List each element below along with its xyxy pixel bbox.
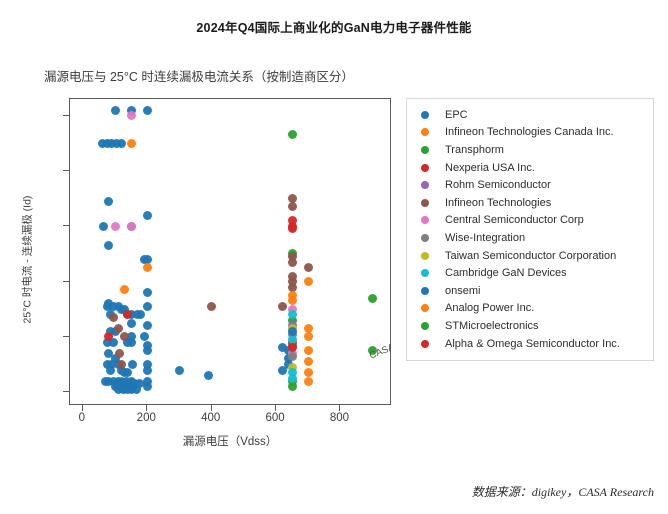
scatter-point bbox=[368, 294, 377, 303]
scatter-point bbox=[288, 382, 297, 391]
x-axis-tick-label: 400 bbox=[201, 412, 220, 424]
scatter-points-layer bbox=[70, 99, 390, 404]
scatter-point bbox=[288, 352, 297, 361]
page-title: 2024年Q4国际上商业化的GaN电力电子器件性能 bbox=[0, 17, 668, 36]
legend-item[interactable]: Nexperia USA Inc. bbox=[415, 159, 645, 177]
legend-item[interactable]: Infineon Technologies bbox=[415, 194, 645, 212]
legend-item-label: STMicroelectronics bbox=[445, 320, 539, 332]
legend[interactable]: EPCInfineon Technologies Canada Inc.Tran… bbox=[406, 98, 654, 361]
legend-item-label: onsemi bbox=[445, 285, 480, 297]
scatter-point bbox=[127, 111, 136, 120]
legend-item-label: Infineon Technologies Canada Inc. bbox=[445, 126, 614, 138]
legend-item[interactable]: Wise-Integration bbox=[415, 229, 645, 247]
scatter-point bbox=[288, 202, 297, 211]
legend-item[interactable]: Cambridge GaN Devices bbox=[415, 264, 645, 282]
scatter-point bbox=[120, 285, 129, 294]
y-axis-tick-mark bbox=[63, 336, 69, 337]
source-note: 数据来源：digikey，CASA Research bbox=[472, 483, 654, 500]
scatter-point bbox=[204, 371, 213, 380]
scatter-point bbox=[127, 319, 136, 328]
scatter-point bbox=[132, 385, 141, 394]
legend-item[interactable]: Taiwan Semiconductor Corporation bbox=[415, 247, 645, 265]
legend-marker-icon bbox=[421, 216, 429, 224]
legend-marker-icon bbox=[421, 164, 429, 172]
legend-marker-icon bbox=[421, 128, 429, 136]
legend-item-label: Taiwan Semiconductor Corporation bbox=[445, 250, 616, 262]
scatter-point bbox=[288, 374, 297, 383]
legend-item-label: Nexperia USA Inc. bbox=[445, 162, 535, 174]
scatter-point bbox=[278, 302, 287, 311]
scatter-point bbox=[304, 263, 313, 272]
chart-page: 2024年Q4国际上商业化的GaN电力电子器件性能 漏源电压与 25°C 时连续… bbox=[0, 0, 668, 514]
scatter-point bbox=[99, 222, 108, 231]
scatter-point bbox=[104, 241, 113, 250]
scatter-point bbox=[111, 222, 120, 231]
y-axis-tick-mark bbox=[63, 225, 69, 226]
plot-area: CASA Research bbox=[69, 98, 391, 405]
legend-marker-icon bbox=[421, 252, 429, 260]
legend-item-label: Analog Power Inc. bbox=[445, 302, 534, 314]
legend-marker-icon bbox=[421, 340, 429, 348]
scatter-point bbox=[143, 321, 152, 330]
scatter-point bbox=[143, 346, 152, 355]
scatter-point bbox=[106, 366, 115, 375]
legend-marker-icon bbox=[421, 269, 429, 277]
y-axis-title: 25°C 时电流 - 连续漏极 (Id) bbox=[20, 170, 35, 350]
scatter-point bbox=[288, 224, 297, 233]
scatter-point bbox=[143, 263, 152, 272]
legend-item[interactable]: Transphorm bbox=[415, 141, 645, 159]
scatter-point bbox=[288, 296, 297, 305]
legend-item[interactable]: Rohm Semiconductor bbox=[415, 176, 645, 194]
legend-item-label: Cambridge GaN Devices bbox=[445, 267, 567, 279]
legend-marker-icon bbox=[421, 111, 429, 119]
legend-item[interactable]: Alpha & Omega Semiconductor Inc. bbox=[415, 335, 645, 353]
legend-marker-icon bbox=[421, 146, 429, 154]
scatter-point bbox=[304, 377, 313, 386]
legend-marker-icon bbox=[421, 181, 429, 189]
scatter-point bbox=[117, 139, 126, 148]
legend-item[interactable]: onsemi bbox=[415, 282, 645, 300]
y-axis-tick-mark bbox=[63, 281, 69, 282]
chart-subtitle: 漏源电压与 25°C 时连续漏极电流关系（按制造商区分） bbox=[44, 66, 354, 85]
scatter-point bbox=[143, 366, 152, 375]
y-axis-tick-mark bbox=[63, 170, 69, 171]
scatter-point bbox=[104, 197, 113, 206]
y-axis-tick-mark bbox=[63, 391, 69, 392]
scatter-point bbox=[127, 222, 136, 231]
x-axis-tick-mark bbox=[339, 405, 340, 411]
scatter-point bbox=[278, 366, 287, 375]
legend-item-label: Central Semiconductor Corp bbox=[445, 214, 584, 226]
scatter-point bbox=[143, 288, 152, 297]
scatter-point bbox=[143, 106, 152, 115]
scatter-point bbox=[115, 349, 124, 358]
scatter-point bbox=[288, 327, 297, 336]
legend-item-label: Alpha & Omega Semiconductor Inc. bbox=[445, 338, 620, 350]
x-axis-tick-mark bbox=[82, 405, 83, 411]
legend-item[interactable]: Infineon Technologies Canada Inc. bbox=[415, 124, 645, 142]
legend-marker-icon bbox=[421, 234, 429, 242]
scatter-point bbox=[288, 130, 297, 139]
scatter-point bbox=[304, 357, 313, 366]
scatter-point bbox=[304, 332, 313, 341]
scatter-point bbox=[111, 106, 120, 115]
x-axis-tick-mark bbox=[146, 405, 147, 411]
scatter-point bbox=[117, 360, 126, 369]
scatter-point bbox=[143, 302, 152, 311]
legend-marker-icon bbox=[421, 322, 429, 330]
x-axis-tick-mark bbox=[275, 405, 276, 411]
scatter-point bbox=[304, 277, 313, 286]
legend-item[interactable]: EPC bbox=[415, 106, 645, 124]
legend-item[interactable]: Analog Power Inc. bbox=[415, 300, 645, 318]
x-axis-tick-label: 200 bbox=[137, 412, 156, 424]
scatter-point bbox=[304, 346, 313, 355]
scatter-point bbox=[304, 368, 313, 377]
x-axis-title: 漏源电压（Vdss） bbox=[69, 433, 391, 449]
scatter-point bbox=[143, 382, 152, 391]
y-axis-tick-mark bbox=[63, 115, 69, 116]
scatter-point bbox=[175, 366, 184, 375]
x-axis-tick-mark bbox=[211, 405, 212, 411]
legend-marker-icon bbox=[421, 304, 429, 312]
legend-item[interactable]: STMicroelectronics bbox=[415, 317, 645, 335]
legend-item-label: Wise-Integration bbox=[445, 232, 525, 244]
scatter-point bbox=[127, 139, 136, 148]
legend-item-label: Rohm Semiconductor bbox=[445, 179, 551, 191]
x-axis-tick-label: 0 bbox=[79, 412, 85, 424]
legend-marker-icon bbox=[421, 287, 429, 295]
scatter-point bbox=[143, 211, 152, 220]
scatter-point bbox=[140, 332, 149, 341]
scatter-point bbox=[109, 313, 118, 322]
legend-item[interactable]: Central Semiconductor Corp bbox=[415, 212, 645, 230]
scatter-point bbox=[288, 310, 297, 319]
x-axis-tick-label: 600 bbox=[265, 412, 284, 424]
legend-item-label: Transphorm bbox=[445, 144, 504, 156]
scatter-point bbox=[368, 346, 377, 355]
scatter-point bbox=[288, 258, 297, 267]
legend-item-label: Infineon Technologies bbox=[445, 197, 551, 209]
x-axis-tick-label: 800 bbox=[330, 412, 349, 424]
scatter-point bbox=[207, 302, 216, 311]
legend-marker-icon bbox=[421, 199, 429, 207]
legend-item-label: EPC bbox=[445, 109, 468, 121]
